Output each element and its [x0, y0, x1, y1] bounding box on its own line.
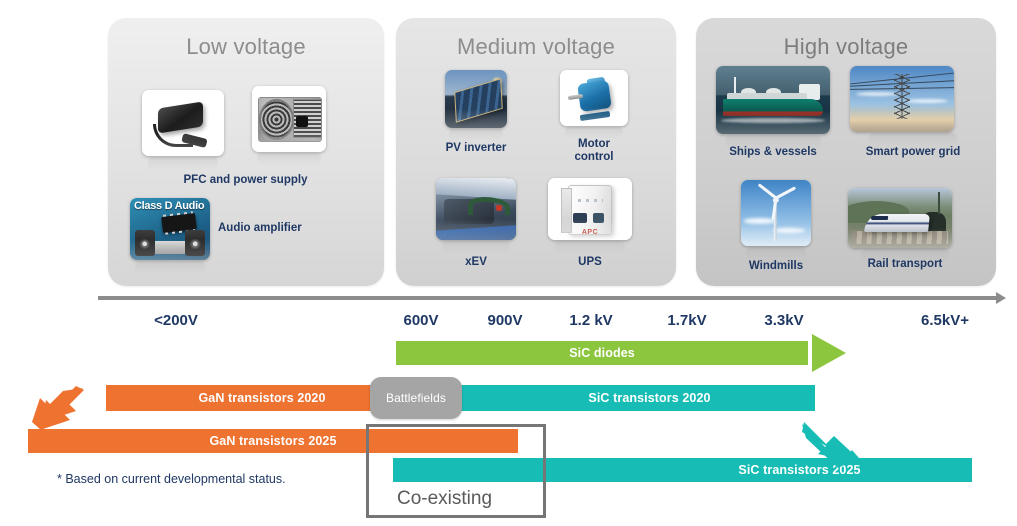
caption-motor-control: Motor control — [559, 138, 629, 164]
thumb-power-adapter — [140, 90, 226, 156]
battlefields-label: Battlefields — [386, 391, 446, 405]
thumb-ups: APC UPS — [538, 178, 642, 269]
caption-smart-power-grid: Smart power grid — [846, 146, 980, 159]
wind-turbine-photo — [741, 180, 811, 246]
battlefields-badge: Battlefields — [370, 377, 462, 419]
sic-expansion-arrow-icon — [800, 418, 870, 468]
solar-panel-photo — [445, 70, 507, 128]
gan-expansion-arrow-icon — [28, 386, 88, 434]
thumb-pv-inverter: PV inverter — [428, 70, 524, 155]
voltage-axis-line — [98, 296, 998, 300]
panel-title-medium-voltage: Medium voltage — [396, 34, 676, 60]
bar-label-gan-2025: GaN transistors 2025 — [209, 434, 336, 448]
caption-xev: xEV — [428, 256, 524, 269]
caption-windmills: Windmills — [732, 260, 820, 273]
panel-title-high-voltage: High voltage — [696, 34, 996, 60]
bar-sic-diodes: SiC diodes — [396, 341, 808, 365]
footnote-text: * Based on current developmental status. — [57, 472, 286, 486]
thumb-motor-control: Motor control — [544, 70, 644, 164]
thumb-windmills: Windmills — [732, 180, 820, 273]
electric-vehicle-engine-photo — [436, 178, 516, 240]
bar-label-gan-2020: GaN transistors 2020 — [198, 391, 325, 405]
axis-tick-0: <200V — [154, 312, 198, 329]
ups-unit-photo: APC — [548, 178, 632, 240]
thumb-smart-power-grid: Smart power grid — [846, 66, 980, 159]
panel-title-low-voltage: Low voltage — [108, 34, 384, 60]
axis-tick-1: 600V — [403, 312, 438, 329]
cargo-ship-photo — [716, 66, 830, 134]
thumb-class-d-audio: Class D Audio — [128, 198, 212, 260]
bar-sic-transistors-2020: SiC transistors 2020 — [418, 385, 815, 411]
caption-pv-inverter: PV inverter — [428, 142, 524, 155]
caption-pfc-power-supply: PFC and power supply — [128, 174, 363, 187]
thumb-atx-psu — [250, 86, 328, 152]
transmission-pylon-photo — [850, 66, 954, 132]
thumb-rail-transport: Rail transport — [846, 188, 964, 271]
axis-tick-5: 3.3kV — [764, 312, 803, 329]
panel-low-voltage: Low voltage PFC and power supply — [108, 18, 384, 286]
axis-tick-6: 6.5kV+ — [921, 312, 969, 329]
voltage-axis-arrow-icon — [996, 292, 1006, 304]
bar-label-sic-2020: SiC transistors 2020 — [588, 391, 710, 405]
atx-power-supply-photo — [252, 86, 326, 152]
thumb-xev: xEV — [428, 178, 524, 269]
axis-tick-3: 1.2 kV — [569, 312, 612, 329]
class-d-audio-board-photo: Class D Audio — [130, 198, 210, 260]
electric-motor-photo — [560, 70, 628, 126]
slide-canvas: Low voltage PFC and power supply — [0, 0, 1017, 526]
caption-ups: UPS — [538, 256, 642, 269]
axis-tick-4: 1.7kV — [667, 312, 706, 329]
power-adapter-photo — [142, 90, 224, 156]
panel-high-voltage: High voltage Ships & vessels — [696, 18, 996, 286]
bar-label-sic-diodes: SiC diodes — [569, 346, 635, 360]
sic-diodes-arrow-icon — [812, 334, 846, 372]
axis-tick-2: 900V — [487, 312, 522, 329]
high-speed-train-photo — [848, 188, 952, 248]
panel-medium-voltage: Medium voltage PV inverter Motor control — [396, 18, 676, 286]
caption-audio-amplifier: Audio amplifier — [218, 222, 358, 235]
co-existing-label: Co-existing — [397, 488, 492, 510]
thumb-ships-vessels: Ships & vessels — [712, 66, 834, 159]
